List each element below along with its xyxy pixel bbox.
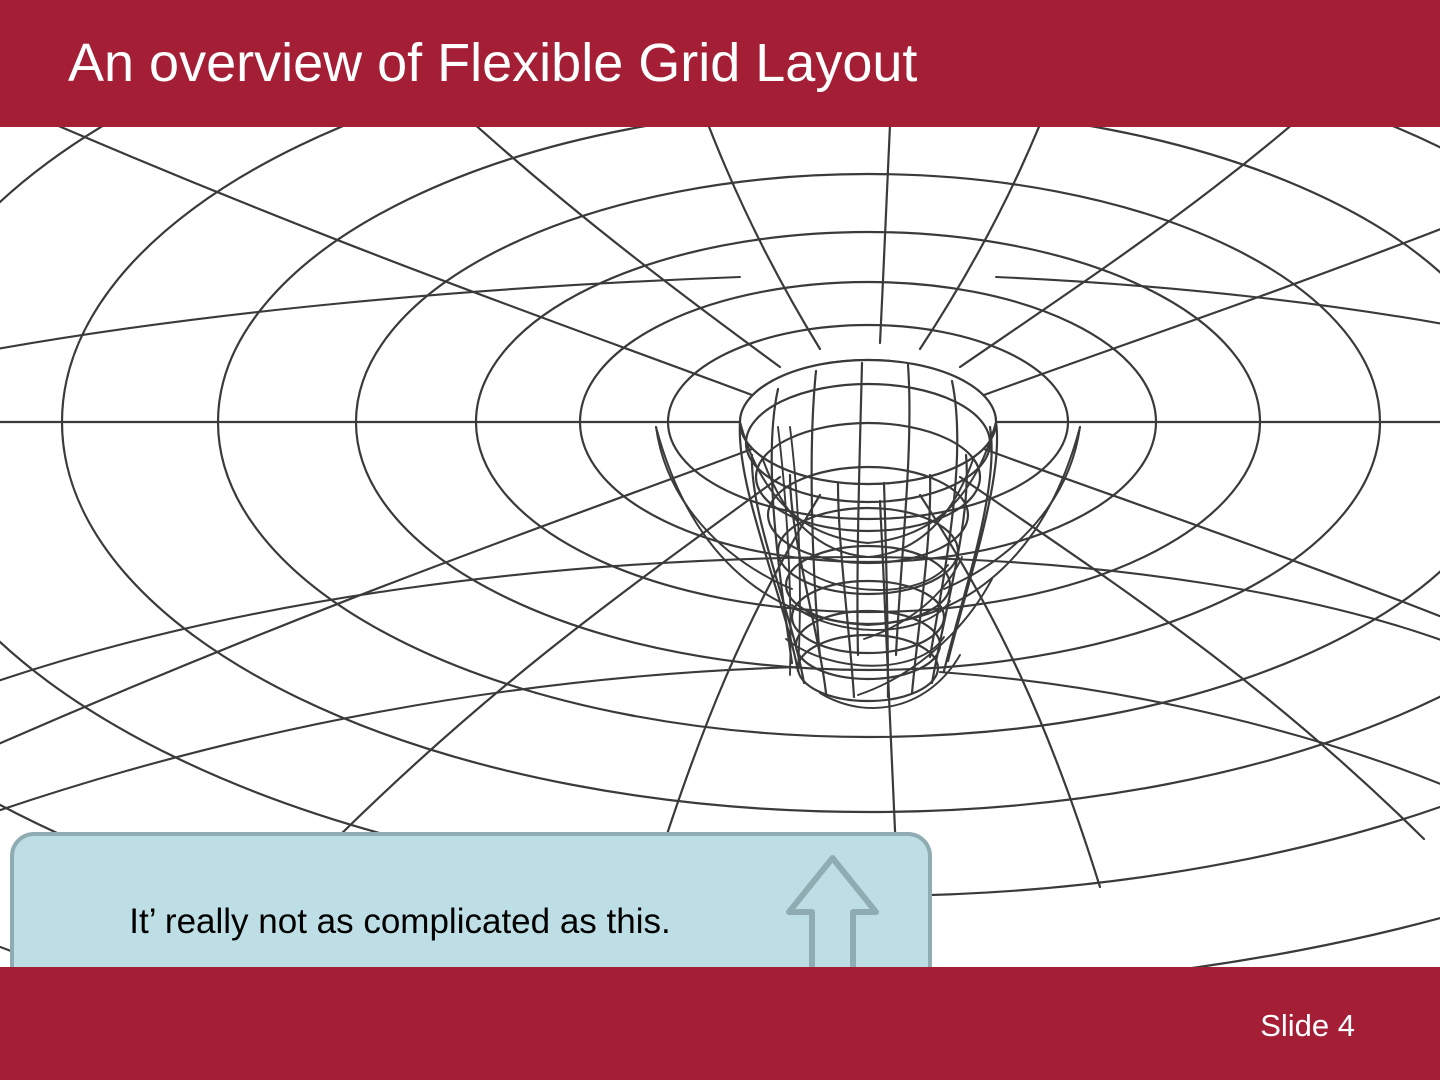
grid-spokes <box>0 127 1440 897</box>
slide-header-bar: An overview of Flexible Grid Layout <box>0 0 1440 127</box>
presentation-slide: An overview of Flexible Grid Layout <box>0 0 1440 1080</box>
outer-sweep-arcs <box>0 277 1440 817</box>
callout-box: It’ really not as complicated as this. <box>10 832 932 967</box>
page-title: An overview of Flexible Grid Layout <box>68 29 917 97</box>
slide-footer-bar: Slide 4 <box>0 967 1440 1080</box>
slide-body: It’ really not as complicated as this. <box>0 127 1440 967</box>
slide-number-label: Slide 4 <box>1260 1008 1355 1044</box>
arrow-up-outline-icon <box>785 852 880 967</box>
